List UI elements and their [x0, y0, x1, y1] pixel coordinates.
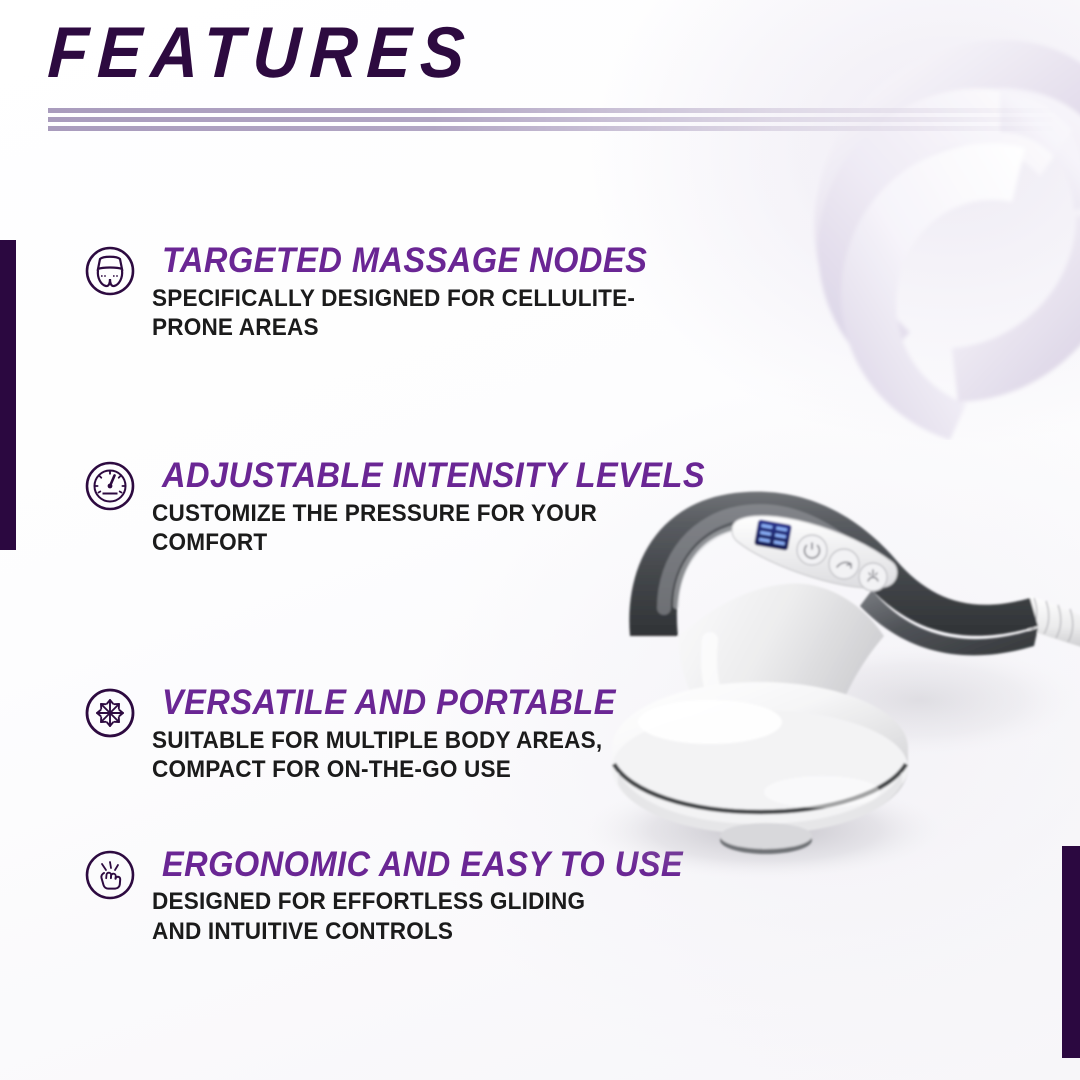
product-control-panel: [732, 516, 897, 591]
left-accent-bar: [0, 240, 16, 550]
gauge-icon: [84, 460, 136, 512]
rule-line-3: [48, 126, 1058, 131]
feature-title: TARGETED MASSAGE NODES: [162, 243, 685, 279]
body-contour-icon: [84, 245, 136, 297]
feature-text-block: TARGETED MASSAGE NODES SPECIFICALLY DESI…: [84, 243, 724, 342]
multi-direction-arrows-icon: [84, 687, 136, 739]
product-image-handheld-body-massager: [560, 400, 1080, 960]
rule-line-1: [48, 108, 1058, 113]
title-underline-rules: [48, 108, 1058, 135]
feature-subtitle: SPECIFICALLY DESIGNED FOR CELLULITE-PRON…: [152, 284, 690, 343]
rule-line-2: [48, 117, 1058, 122]
header: FEATURES: [48, 18, 1028, 89]
pointing-hand-icon: [84, 849, 136, 901]
feature-item-targeted-massage-nodes: TARGETED MASSAGE NODES SPECIFICALLY DESI…: [84, 243, 724, 342]
page-title: FEATURES: [46, 18, 951, 89]
